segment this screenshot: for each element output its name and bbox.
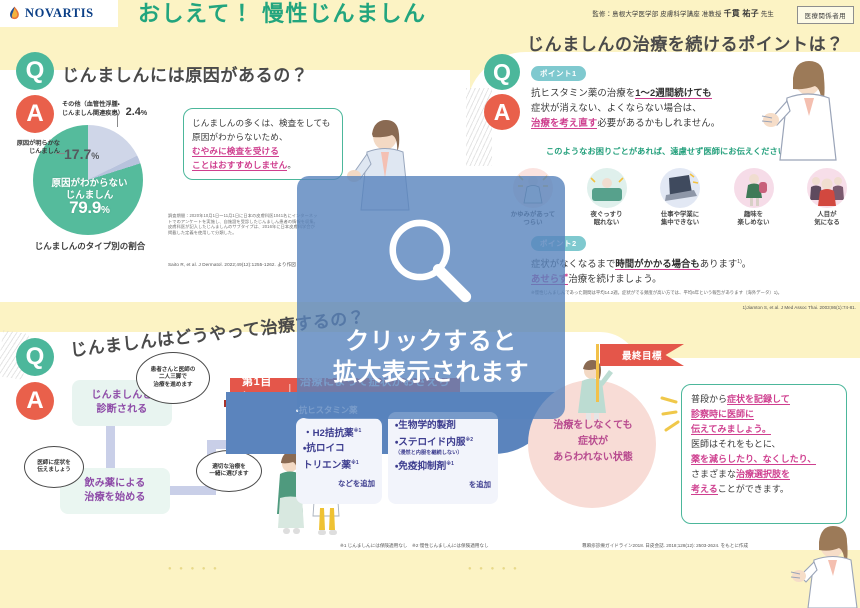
flow-step2-label: 飲み薬による 治療を始める [84, 477, 145, 505]
doctor-illustration-bottom [790, 524, 860, 608]
sleepless-icon [587, 168, 627, 208]
symptom-cell-4: 人目が 気になる [794, 168, 860, 230]
symptom-label-4: 人目が 気になる [794, 211, 860, 227]
med2-item3-sup: ※1 [446, 461, 454, 467]
novartis-flame-icon [8, 6, 21, 21]
point1-line2: 症状が消えない、よくならない場合は、 [531, 102, 702, 113]
pie-known-text: 原因が明らかな じんましん [17, 140, 60, 155]
med2-add: を追加 [395, 477, 491, 492]
q2-answer-badge: A [484, 94, 520, 130]
patient-goal-illustration [570, 360, 614, 427]
q1-question-badge: Q [16, 52, 54, 90]
doctor-figure-bottom-svg [790, 524, 860, 608]
final-pre5: さまざまな [691, 469, 736, 479]
q1-speech-period: 。 [287, 160, 296, 170]
pie-slice-known-label: 原因が明らかな じんましん [0, 140, 60, 155]
flow-connector-1 [106, 426, 115, 468]
final-line4: 医師はそれをもとに、 [691, 439, 781, 449]
symptom-label-2: 仕事や学業に 集中できない [647, 211, 713, 227]
pie-other-value: 2.4 [126, 106, 141, 118]
med1-item2: 抗ロイコ トリエン薬 [303, 443, 351, 471]
med2-item3: 免疫抑制剤 [398, 461, 446, 472]
pie-known-value: 17.7 [64, 146, 91, 162]
pie-unknown-value: 79.9 [69, 198, 101, 217]
novartis-logo-text: NOVARTIS [25, 6, 94, 21]
goal-flag-pole [596, 344, 599, 402]
appearance-icon [807, 168, 847, 208]
patient-goal-svg [570, 360, 614, 422]
supervisor-name: 千貫 祐子 [724, 9, 759, 18]
point1-hl2: 治療を考え直す [531, 117, 597, 129]
point2-sup: 1) [737, 259, 741, 265]
med2-item1: 生物学的製剤 [398, 420, 456, 431]
point2-hl: 時間がかかる場合も [615, 258, 699, 270]
final-hl5: 治療選択肢を [736, 469, 790, 480]
final-hl1: 症状を記録して [727, 394, 790, 405]
symptom-cell-1: 夜ぐっすり 眠れない [574, 168, 640, 230]
click-to-enlarge-overlay[interactable]: クリックすると 拡大表示されます [297, 176, 565, 419]
bubble-partnership: 患者さんと医師の 二人三脚で 治療を進めます [136, 352, 210, 404]
doctor-figure-q2-svg [760, 58, 844, 162]
q1-title: じんましんには原因があるの？ [62, 61, 308, 86]
pie-unknown-line1: 原因がわからない [51, 178, 127, 189]
dotted-decoration-right: ● ● ● ● ● [468, 566, 520, 572]
q3-question-badge: Q [16, 338, 54, 376]
supervisor-credit: 監修：島根大学医学部 皮膚科学講座 准教授千貫 祐子先生 [592, 8, 774, 19]
magnifier-icon [375, 208, 487, 320]
final-box-text: 普段から症状を記録して 診察時に医師に 伝えてみましょう。 医師はそれをもとに、… [682, 385, 846, 504]
q2-title: じんましんの治療を続けるポイントは？ [527, 30, 844, 55]
pie-known-value-wrap: 17.7% [64, 146, 99, 162]
pie-slice-other-label: その他（血管性浮腫・ じんましん関連疾患） 2.4% [62, 101, 182, 117]
work-focus-icon [660, 168, 700, 208]
infographic-page: NOVARTIS おしえて！ 慢性じんましん 監修：島根大学医学部 皮膚科学講座… [0, 0, 860, 608]
pie-known-pct: % [91, 151, 99, 161]
page-header: NOVARTIS おしえて！ 慢性じんましん 監修：島根大学医学部 皮膚科学講座… [0, 0, 860, 27]
point1-post2: 必要があるかもしれません。 [597, 117, 720, 128]
supervisor-suffix: 先生 [761, 11, 774, 18]
pie-other-text: その他（血管性浮腫・ じんましん関連疾患） [62, 101, 124, 117]
q1-speech-box: じんましんの多くは、検査をしても 原因がわからないため、 むやみに検査を受ける … [183, 108, 343, 180]
overlay-text: クリックすると 拡大表示されます [333, 326, 529, 388]
pie-other-pct: % [141, 110, 147, 117]
q1-answer-badge: A [16, 95, 54, 133]
med1-item1: H2拮抗薬 [313, 428, 354, 439]
symptom-label-3: 趣味を 楽しめない [721, 211, 787, 227]
final-hl3: 伝えてみましょう。 [691, 424, 771, 435]
q2-question-badge: Q [484, 54, 520, 90]
symptom-cell-3: 趣味を 楽しめない [721, 168, 787, 230]
record-symptoms-box: 普段から症状を記録して 診察時に医師に 伝えてみましょう。 医師はそれをもとに、… [681, 384, 847, 524]
point2-note: ※慢性じんましんであった期間は平均14.2週。症状がでる頻度が高い方では、平均6… [531, 290, 856, 296]
pie-unknown-pct: % [101, 205, 110, 216]
point2-post2: 治療を続けましょう。 [568, 273, 661, 284]
supervisor-prefix: 監修：島根大学医学部 皮膚科学講座 准教授 [592, 11, 721, 18]
q1-speech-hl1: むやみに検査を受ける [192, 146, 279, 157]
medication-card-1: ・H2拮抗薬※1 ・抗ロイコ トリエン薬※1 などを追加 [296, 418, 382, 504]
hobby-icon [734, 168, 774, 208]
med2-item2: ステロイド内服 [398, 437, 465, 448]
bubble-tell-symptoms: 医師に症状を 伝えましょう [24, 446, 84, 488]
audience-badge: 医療関係者用 [797, 6, 854, 24]
final-pre1: 普段から [691, 394, 727, 404]
q3-answer-badge: A [16, 382, 54, 420]
dotted-decoration-left: ● ● ● ● ● [168, 566, 220, 572]
medication-card-2: ・生物学的製剤 ・ステロイド内服※2 （漫然と内服を継続しない） ・免疫抑制剤※… [388, 412, 498, 504]
bubble-choose-treatment: 適切な治療を 一緒に選びます [196, 450, 262, 492]
final-post5: ことができます。 [718, 484, 789, 494]
q1-speech-line1: じんましんの多くは、検査をしても [192, 118, 330, 128]
point1-hl1: 1～2週間 [635, 87, 674, 99]
point1-mid1: 続けても [674, 87, 711, 99]
final-hl6: 考える [691, 484, 718, 495]
pie-slice-unknown-label: 原因がわからない じんましん 79.9% [42, 178, 137, 217]
med2-item2-note: （漫然と内服を継続しない） [395, 450, 491, 457]
q3-footnote-left: ※1 じんましんには保険適用なし ※2 慢性じんましんには保険適用なし [340, 543, 489, 549]
point2-body: 症状がなくなるまで時間がかかる場合もあります1)。 あせらず治療を続けましょう。 [531, 255, 851, 286]
overlay-line1: クリックすると [345, 328, 517, 355]
pie-chart-note: 調査期間：2020年10月1日～11月1日に日本の皮膚科医1041名にインターネ… [168, 213, 318, 235]
q1-speech-text: じんましんの多くは、検査をしても 原因がわからないため、 むやみに検査を受ける … [184, 109, 342, 179]
med1-item1-sup: ※1 [354, 428, 362, 434]
med1-item2-sup: ※1 [351, 460, 359, 466]
point2-post: あります [700, 258, 738, 269]
novartis-logo[interactable]: NOVARTIS [0, 0, 118, 27]
point1-tag: ポイント1 [531, 66, 586, 81]
pie-chart-caption: じんましんのタイプ別の割合 [30, 240, 150, 252]
doctor-illustration-q2 [760, 58, 844, 167]
overlay-line2: 拡大表示されます [333, 359, 529, 386]
final-hl2: 診察時に医師に [691, 409, 754, 420]
point2-reference: 1)Jiamton S, et al. J Med Assoc Thai. 20… [620, 305, 856, 310]
med1-add: などを追加 [303, 476, 375, 491]
symptom-cell-2: 仕事や学業に 集中できない [647, 168, 713, 230]
q1-speech-hl2: ことはおすすめしません [192, 160, 287, 171]
symptom-label-1: 夜ぐっすり 眠れない [574, 211, 640, 227]
med2-item2-sup: ※2 [465, 437, 473, 443]
pie-leader-other [117, 113, 118, 127]
q3-footnote-right: 蕁麻疹診療ガイドライン2018. 日皮会誌. 2018;128(12): 250… [582, 543, 748, 549]
point1-pre1: 抗ヒスタミン薬の治療を [531, 87, 635, 98]
q1-speech-line2: 原因がわからないため、 [192, 132, 288, 142]
final-hl4: 薬を減らしたり、なくしたり、 [691, 454, 816, 465]
final-goal-text: 治療をしなくても 症状が あらわれない状態 [533, 418, 653, 466]
page-title: おしえて！ 慢性じんましん [138, 1, 427, 27]
